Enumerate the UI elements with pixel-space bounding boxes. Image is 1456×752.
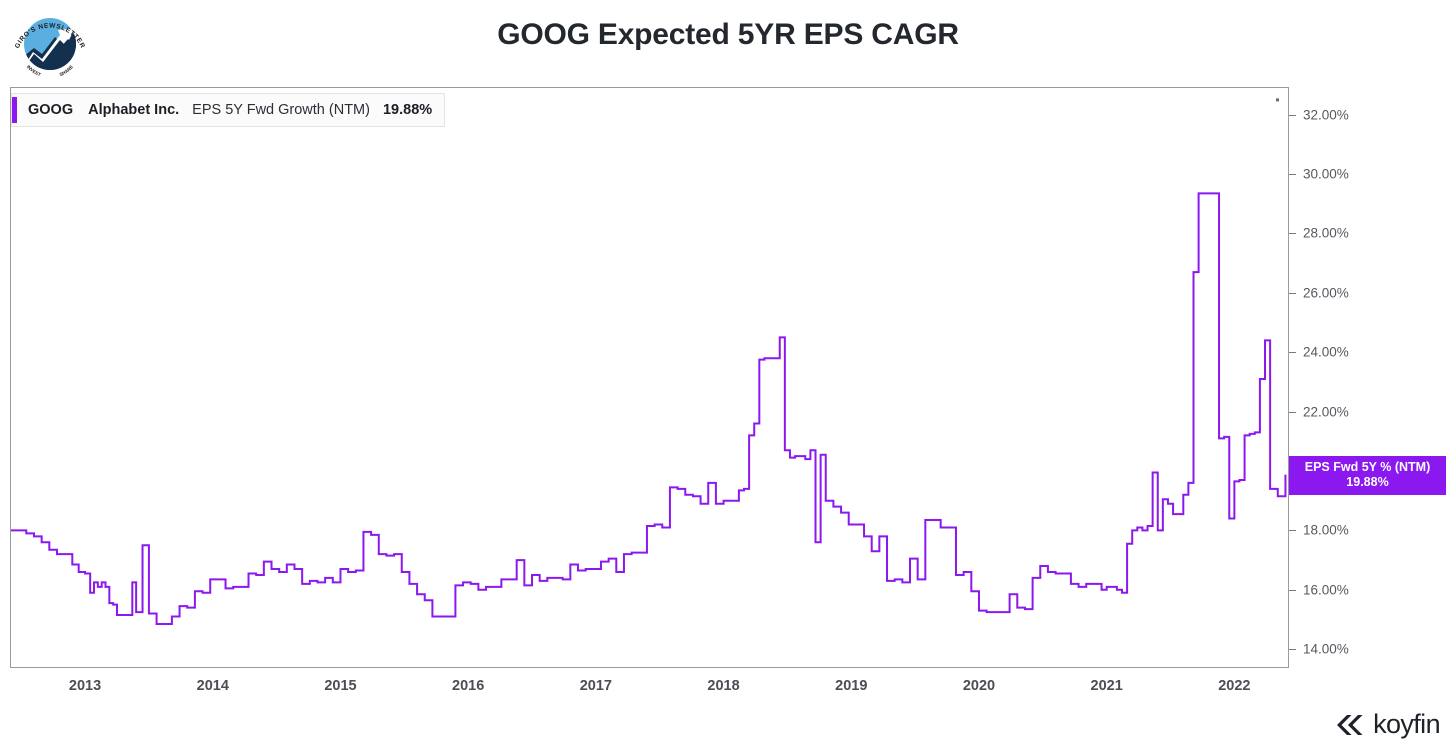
- series-line-eps-fwd-5y: [11, 193, 1285, 624]
- y-axis-tick-label: 18.00%: [1303, 523, 1349, 538]
- x-axis-tick-label: 2019: [835, 678, 867, 694]
- y-axis-tick-mark: [1289, 233, 1296, 234]
- legend-color-swatch: [12, 97, 17, 123]
- koyfin-watermark: koyfin: [1331, 709, 1440, 740]
- y-axis-tick-mark: [1289, 115, 1296, 116]
- y-axis-tick-mark: [1289, 649, 1296, 650]
- x-axis-tick-label: 2014: [197, 678, 229, 694]
- x-axis-tick-label: 2017: [580, 678, 612, 694]
- last-point-marker: [1276, 98, 1279, 101]
- x-axis-tick-label: 2013: [69, 678, 101, 694]
- y-axis-tick-mark: [1289, 174, 1296, 175]
- x-axis-tick-label: 2016: [452, 678, 484, 694]
- value-badge-label: EPS Fwd 5Y % (NTM): [1289, 460, 1446, 475]
- y-axis-tick-label: 22.00%: [1303, 404, 1349, 419]
- x-axis-tick-label: 2018: [707, 678, 739, 694]
- y-axis-tick-label: 32.00%: [1303, 107, 1349, 122]
- current-value-badge[interactable]: EPS Fwd 5Y % (NTM) 19.88%: [1289, 456, 1446, 495]
- y-axis-tick-label: 14.00%: [1303, 642, 1349, 657]
- x-axis: 2013201420152016201720182019202020212022: [0, 672, 1300, 702]
- y-axis-tick-mark: [1289, 590, 1296, 591]
- chart-page: GIRO'S NEWSLETTER INVEST SHARE GOOG Expe…: [0, 0, 1456, 752]
- chart-legend[interactable]: GOOG Alphabet Inc. EPS 5Y Fwd Growth (NT…: [11, 93, 445, 127]
- x-axis-tick-label: 2015: [324, 678, 356, 694]
- x-axis-tick-label: 2022: [1218, 678, 1250, 694]
- y-axis-tick-mark: [1289, 352, 1296, 353]
- y-axis-tick-label: 24.00%: [1303, 345, 1349, 360]
- chart-plot-area[interactable]: [11, 88, 1288, 667]
- x-axis-tick-label: 2021: [1091, 678, 1123, 694]
- y-axis-tick-mark: [1289, 293, 1296, 294]
- legend-company-name: Alphabet Inc.: [88, 102, 179, 118]
- y-axis-tick-mark: [1289, 412, 1296, 413]
- koyfin-chevron-icon: [1331, 711, 1365, 739]
- y-axis-tick-label: 30.00%: [1303, 167, 1349, 182]
- value-badge-value: 19.88%: [1289, 475, 1446, 490]
- y-axis-tick-label: 16.00%: [1303, 582, 1349, 597]
- x-axis-tick-label: 2020: [963, 678, 995, 694]
- y-axis-tick-label: 28.00%: [1303, 226, 1349, 241]
- legend-metric-name: EPS 5Y Fwd Growth (NTM): [192, 102, 370, 118]
- y-axis-tick-mark: [1289, 530, 1296, 531]
- y-axis: 32.00%30.00%28.00%26.00%24.00%22.00%18.0…: [1289, 87, 1389, 668]
- legend-ticker: GOOG: [28, 102, 73, 118]
- koyfin-wordmark: koyfin: [1373, 709, 1440, 740]
- page-title: GOOG Expected 5YR EPS CAGR: [0, 18, 1456, 52]
- y-axis-tick-label: 26.00%: [1303, 285, 1349, 300]
- legend-current-value: 19.88%: [383, 102, 432, 118]
